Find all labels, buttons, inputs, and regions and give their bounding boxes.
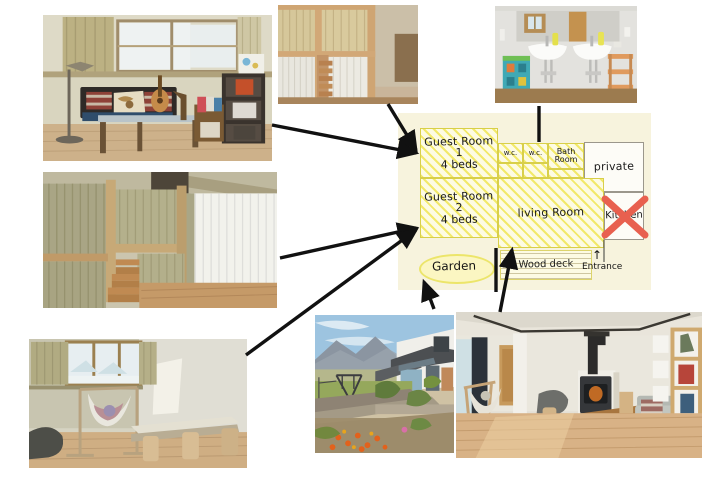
connector-gardenphoto-to-garden: [424, 282, 434, 309]
diagram-canvas: Guest Room 1 4 beds Guest Room 2 4 beds …: [0, 0, 707, 500]
connector-lines: [0, 0, 707, 500]
connector-hammock-to-guestroom2: [246, 230, 416, 355]
connector-livingphoto-to-livingroom: [500, 250, 512, 312]
connector-bunkcurtains-to-guestroom1: [388, 104, 416, 150]
connector-lounge-to-guestroom1: [272, 125, 416, 153]
